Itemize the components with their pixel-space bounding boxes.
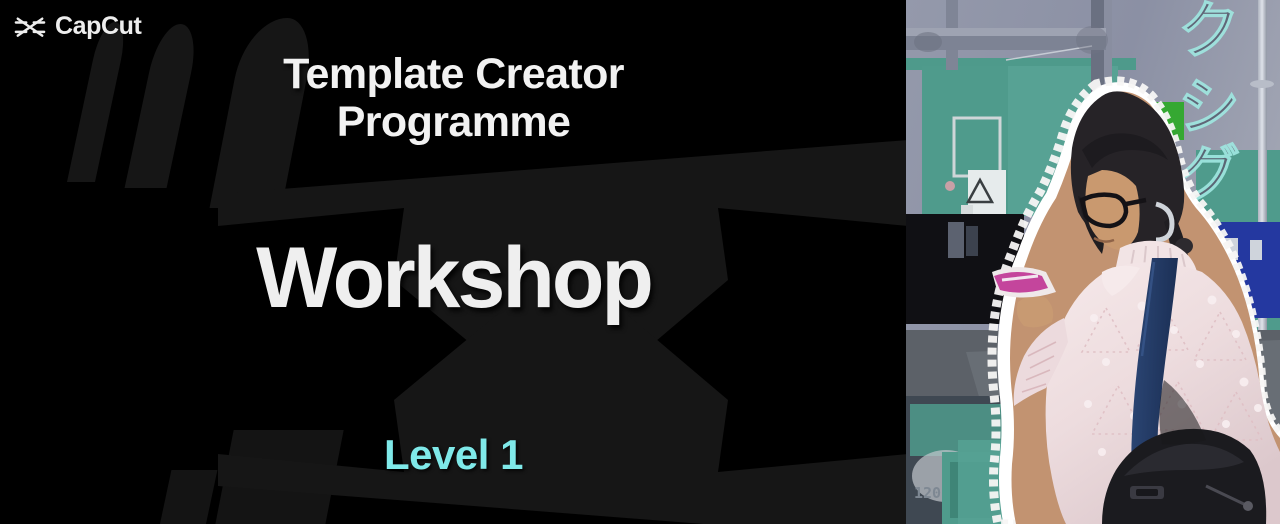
page-title: Template Creator Programme	[0, 50, 907, 146]
svg-text:ク: ク	[1178, 0, 1240, 67]
title-line-2: Programme	[60, 98, 847, 146]
capcut-bowtie-icon	[14, 14, 46, 40]
capcut-wordmark: CapCut	[55, 12, 141, 41]
title-line-1: Template Creator	[60, 50, 847, 98]
hero-photo: ク シ グ	[906, 0, 1280, 524]
svg-text:シ: シ	[1178, 70, 1240, 143]
slide-content: CapCut Template Creator Programme Worksh…	[0, 0, 907, 524]
dark-background-panel: CapCut Template Creator Programme Worksh…	[0, 0, 907, 524]
level-label: Level 1	[0, 434, 907, 476]
workshop-slide: CapCut Template Creator Programme Worksh…	[0, 0, 1280, 524]
headline: Workshop	[0, 235, 907, 321]
capcut-logo[interactable]: CapCut	[14, 12, 141, 41]
